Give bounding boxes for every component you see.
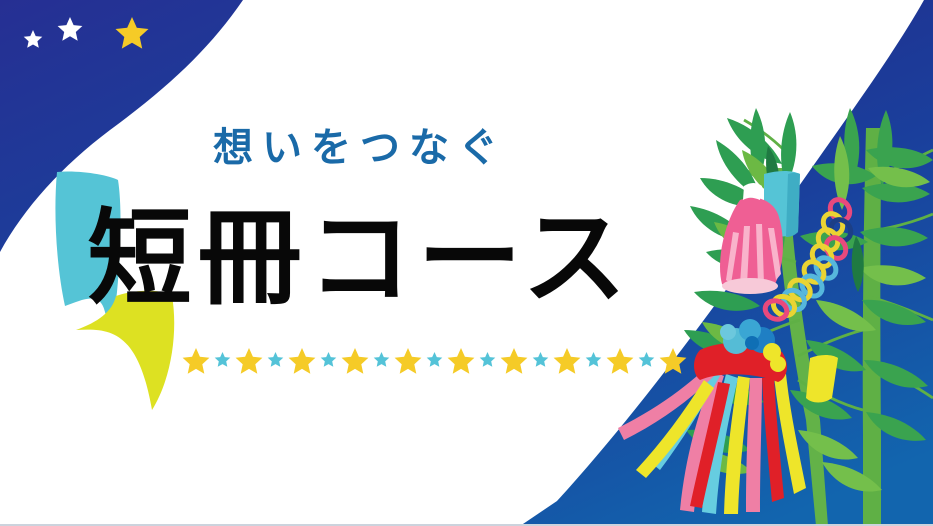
- tanzaku-hanging-cyan-shade: [786, 173, 800, 237]
- banner-artwork: [0, 0, 933, 526]
- tanabata-banner: 想いをつなぐ 短冊コース: [0, 0, 933, 526]
